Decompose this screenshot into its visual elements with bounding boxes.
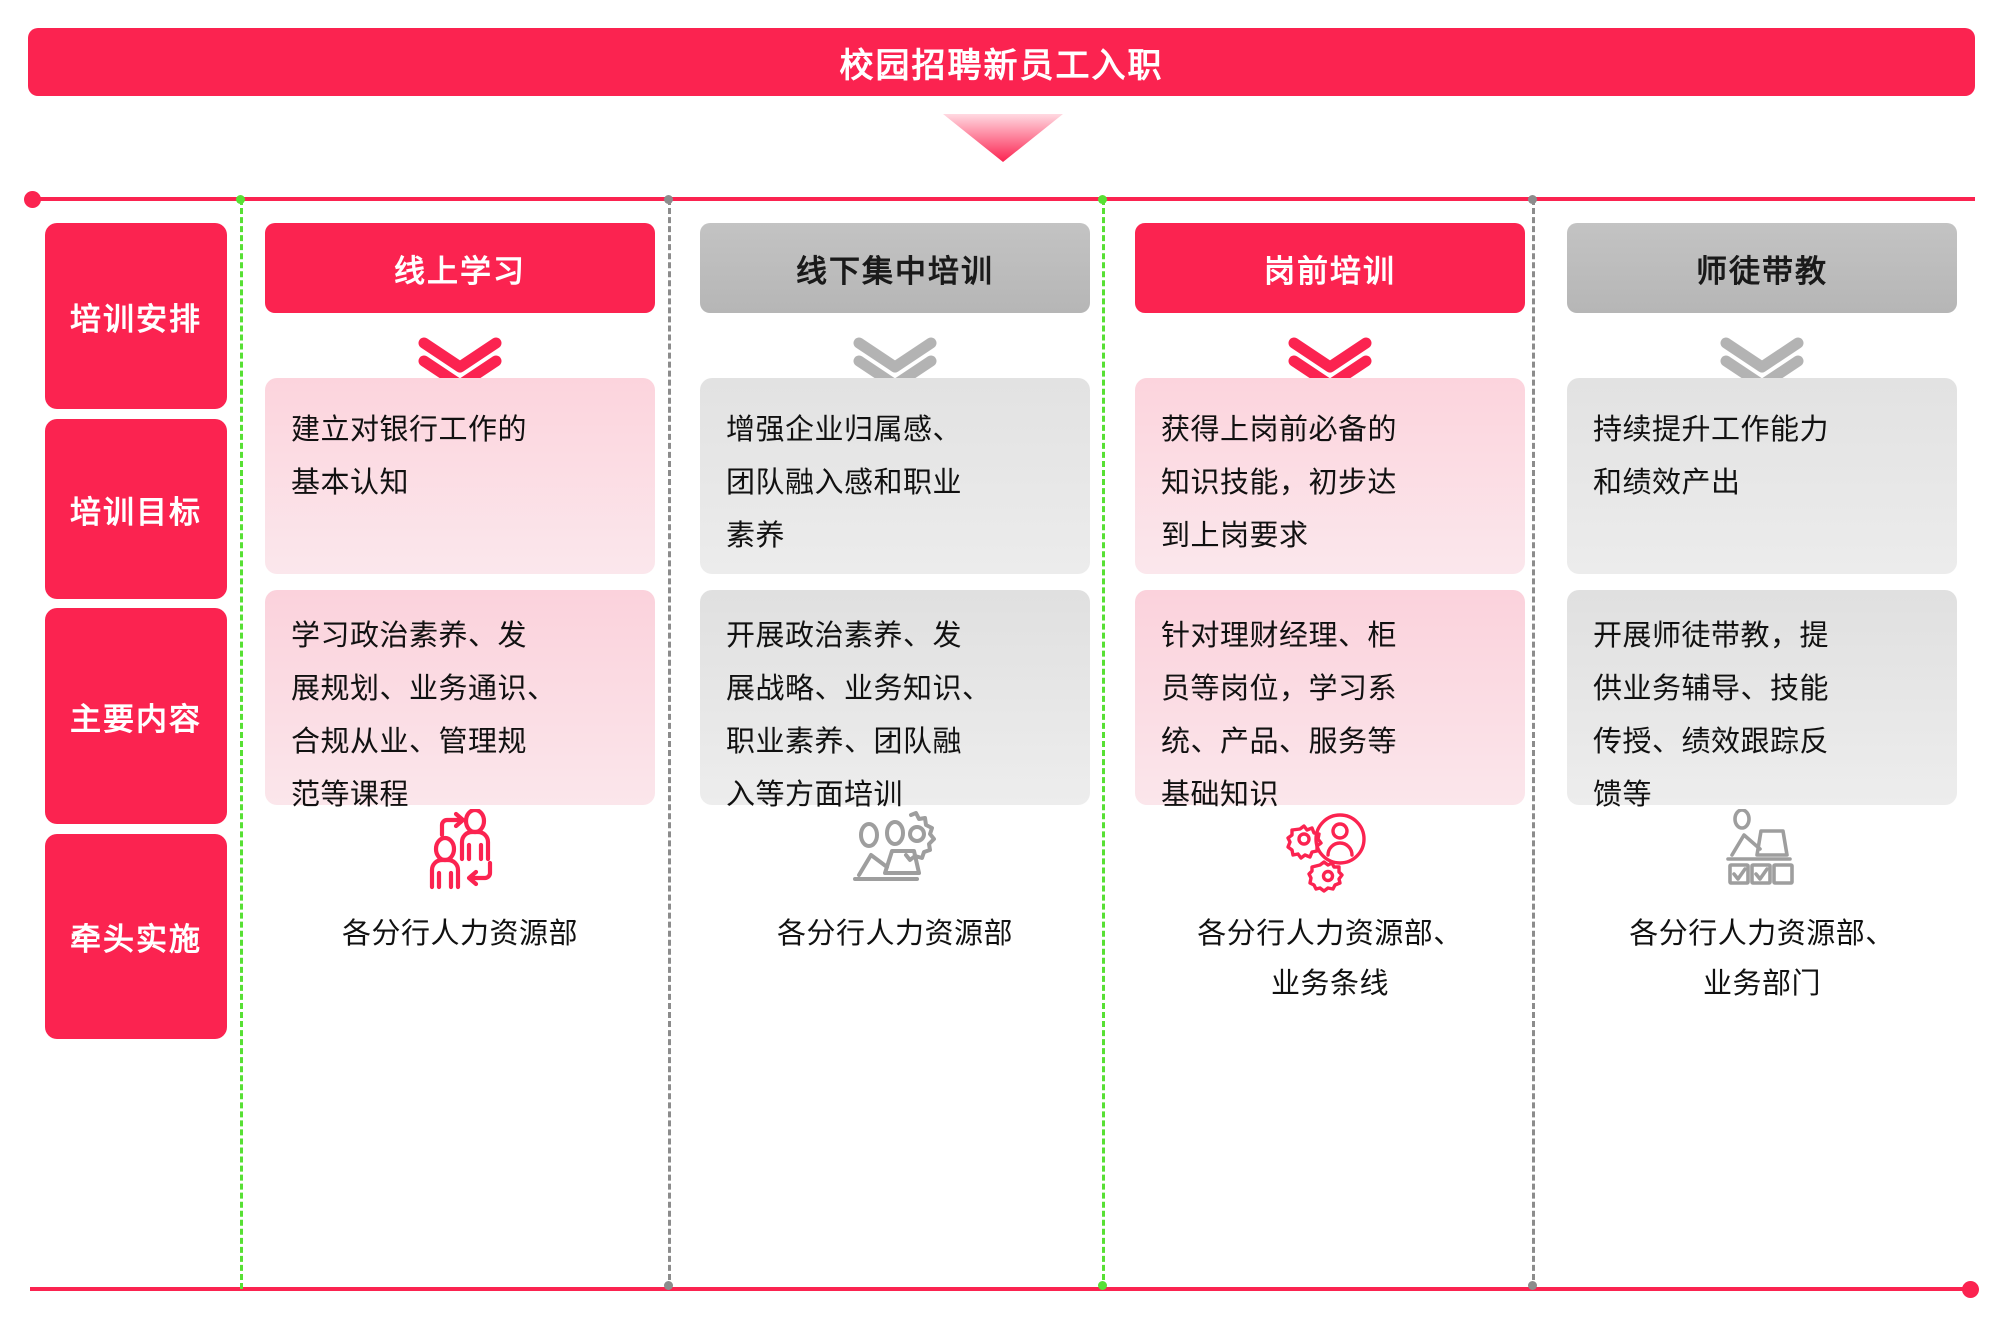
goal-text: 获得上岗前必备的 知识技能，初步达 到上岗要求 (1161, 404, 1501, 563)
content-text: 针对理财经理、柜 员等岗位，学习系 统、产品、服务等 基础知识 (1161, 610, 1507, 822)
goal-box: 持续提升工作能力 和绩效产出 (1567, 378, 1957, 574)
implementation-block: 各分行人力资源部、 业务条线 (1135, 809, 1525, 1059)
column-mentorship: 师徒带教 持续提升工作能力 和绩效产出 开展师徒带教，提 供业务辅导、技能 传授… (1567, 197, 1957, 1289)
column-offline-training: 线下集中培训 增强企业归属感、 团队融入感和职业 素养 开展政治素养、发 展战略… (700, 197, 1090, 1289)
content-text: 学习政治素养、发 展规划、业务通识、 合规从业、管理规 范等课程 (291, 610, 637, 822)
content-box: 针对理财经理、柜 员等岗位，学习系 统、产品、服务等 基础知识 (1135, 590, 1525, 805)
content-box: 开展政治素养、发 展战略、业务知识、 职业素养、团队融 入等方面培训 (700, 590, 1090, 805)
goal-box: 建立对银行工作的 基本认知 (265, 378, 655, 574)
row-label-lead-implementation[interactable]: 牵头实施 (45, 834, 227, 1039)
goal-text: 增强企业归属感、 团队融入感和职业 素养 (726, 404, 1066, 563)
column-header-label: 师徒带教 (1696, 246, 1828, 291)
goal-box: 增强企业归属感、 团队融入感和职业 素养 (700, 378, 1090, 574)
gears-person-icon (1282, 809, 1378, 893)
matrix-grid: 培训安排 培训目标 主要内容 牵头实施 线上学习 (0, 197, 2003, 1289)
column-header-label: 线上学习 (394, 246, 526, 291)
implementation-block: 各分行人力资源部 (265, 809, 655, 1059)
row-label-training-arrangement[interactable]: 培训安排 (45, 223, 227, 409)
implementation-text: 各分行人力资源部、 业务条线 (1197, 909, 1463, 1009)
content-box: 学习政治素养、发 展规划、业务通识、 合规从业、管理规 范等课程 (265, 590, 655, 805)
column-header-pill[interactable]: 线上学习 (265, 223, 655, 313)
implementation-text: 各分行人力资源部 (342, 909, 578, 959)
column-online-learning: 线上学习 建立对银行工作的 基本认知 学习政治素养、发 展规划、业务通识、 合规… (265, 197, 655, 1289)
column-header-label: 线下集中培训 (796, 246, 994, 291)
column-header-label: 岗前培训 (1264, 246, 1396, 291)
row-label-text: 培训目标 (70, 487, 202, 532)
row-label-main-content[interactable]: 主要内容 (45, 608, 227, 824)
implementation-text: 各分行人力资源部、 业务部门 (1629, 909, 1895, 1009)
person-laptop-gear-icon (847, 809, 943, 893)
row-label-training-goal[interactable]: 培训目标 (45, 419, 227, 599)
diagram-title-banner: 校园招聘新员工入职 (28, 28, 1975, 96)
content-box: 开展师徒带教，提 供业务辅导、技能 传授、绩效跟踪反 馈等 (1567, 590, 1957, 805)
implementation-block: 各分行人力资源部 (700, 809, 1090, 1059)
row-label-text: 牵头实施 (70, 914, 202, 959)
diagram-canvas: 校园招聘新员工入职 培训安排 培训目标 主要内容 牵头实施 (0, 0, 2003, 1326)
content-text: 开展师徒带教，提 供业务辅导、技能 传授、绩效跟踪反 馈等 (1593, 610, 1939, 822)
person-desk-checklist-icon (1714, 809, 1810, 893)
people-exchange-icon (412, 809, 508, 893)
implementation-text: 各分行人力资源部 (777, 909, 1013, 959)
implementation-block: 各分行人力资源部、 业务部门 (1567, 809, 1957, 1059)
column-header-pill[interactable]: 岗前培训 (1135, 223, 1525, 313)
column-pre-job-training: 岗前培训 获得上岗前必备的 知识技能，初步达 到上岗要求 针对理财经理、柜 员等… (1135, 197, 1525, 1289)
row-label-text: 培训安排 (70, 294, 202, 339)
column-header-pill[interactable]: 师徒带教 (1567, 223, 1957, 313)
content-text: 开展政治素养、发 展战略、业务知识、 职业素养、团队融 入等方面培训 (726, 610, 1072, 822)
row-label-column: 培训安排 培训目标 主要内容 牵头实施 (45, 197, 227, 1289)
down-triangle-icon (943, 114, 1063, 162)
page-title: 校园招聘新员工入职 (840, 38, 1164, 87)
goal-box: 获得上岗前必备的 知识技能，初步达 到上岗要求 (1135, 378, 1525, 574)
goal-text: 建立对银行工作的 基本认知 (291, 404, 631, 510)
column-header-pill[interactable]: 线下集中培训 (700, 223, 1090, 313)
row-label-text: 主要内容 (70, 694, 202, 739)
goal-text: 持续提升工作能力 和绩效产出 (1593, 404, 1933, 510)
